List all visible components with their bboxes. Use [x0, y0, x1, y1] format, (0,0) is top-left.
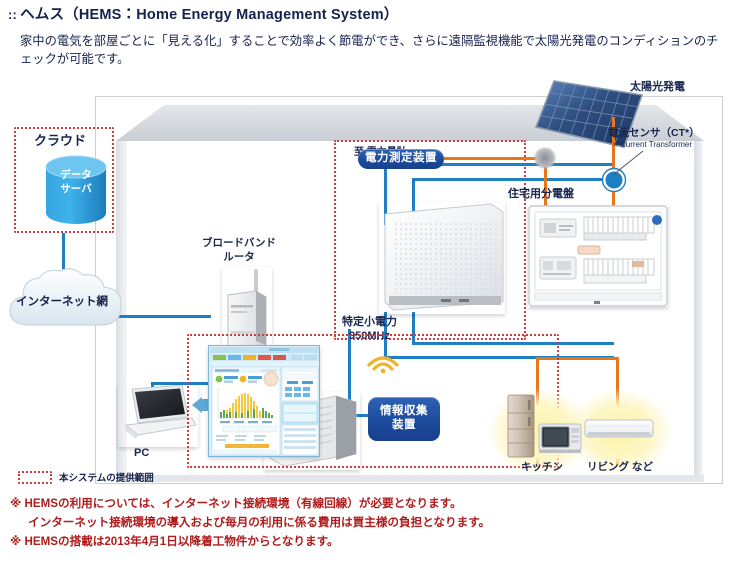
- ct-sensor-label: 電流センサ（CT*）: [608, 127, 700, 140]
- page-header: ::ヘムス（HEMS：Home Energy Management System…: [8, 3, 722, 69]
- hems-diagram-page: ::ヘムス（HEMS：Home Energy Management System…: [0, 0, 730, 565]
- footnote-3: ※ HEMSの搭載は2013年4月1日以降着工物件からとなります。: [10, 533, 720, 552]
- air-conditioner-icon: [584, 417, 654, 445]
- ct-leader-line: [601, 145, 661, 179]
- data-server-line2: サーバ: [60, 183, 91, 195]
- data-server-label: データ サーバ: [48, 169, 104, 196]
- distribution-board-label: 住宅用分電盤: [508, 188, 574, 202]
- scope-legend: 本システムの提供範囲: [18, 470, 154, 484]
- title-bullet-icon: ::: [8, 7, 17, 22]
- low-power-radio-line1: 特定小電力: [342, 316, 397, 328]
- scope-legend-swatch: [18, 471, 52, 484]
- router-line2: ルータ: [223, 251, 255, 263]
- ct-sensor-note: ＊Current Transformer: [612, 140, 692, 150]
- solar-label: 太陽光発電: [630, 81, 685, 95]
- footnotes: ※ HEMSの利用については、インターネット接続環境（有線回線）が必要となります…: [10, 495, 720, 551]
- wire-orange-meter-run: [436, 157, 546, 160]
- cloud-title: クラウド: [34, 133, 86, 149]
- page-title-text: ヘムス（HEMS：Home Energy Management System）: [20, 7, 398, 23]
- internet-label: インターネット網: [16, 293, 108, 309]
- scope-legend-label: 本システムの提供範囲: [59, 470, 154, 484]
- microwave-icon: [538, 422, 582, 454]
- footnote-2: インターネット接続環境の導入および毎月の利用に係る費用は買主様の負担となります。: [10, 514, 720, 533]
- kitchen-label: キッチン: [500, 461, 584, 474]
- distribution-board-icon: [528, 205, 668, 307]
- page-description: 家中の電気を部屋ごとに「見える化」することで効率よく節電ができ、さらに遠隔監視機…: [20, 33, 720, 69]
- pc-label: PC: [134, 447, 149, 461]
- diagram-frame: 太陽光発電: [95, 96, 723, 484]
- router-label: ブロードバンド ルータ: [202, 237, 276, 264]
- footnote-1: ※ HEMSの利用については、インターネット接続環境（有線回線）が必要となります…: [10, 495, 720, 514]
- junction-node: [534, 147, 556, 169]
- wire-blue-top-2: [412, 178, 614, 181]
- data-server-line1: データ: [60, 169, 92, 181]
- page-title: ::ヘムス（HEMS：Home Energy Management System…: [8, 3, 722, 24]
- router-line1: ブロードバンド: [202, 237, 276, 249]
- pc-laptop-icon: [118, 385, 198, 447]
- living-label: リビング など: [574, 461, 666, 474]
- refrigerator-icon: [504, 393, 538, 459]
- measurement-device-badge: 電力測定装置: [358, 149, 444, 169]
- power-measurement-device-icon: [379, 202, 505, 314]
